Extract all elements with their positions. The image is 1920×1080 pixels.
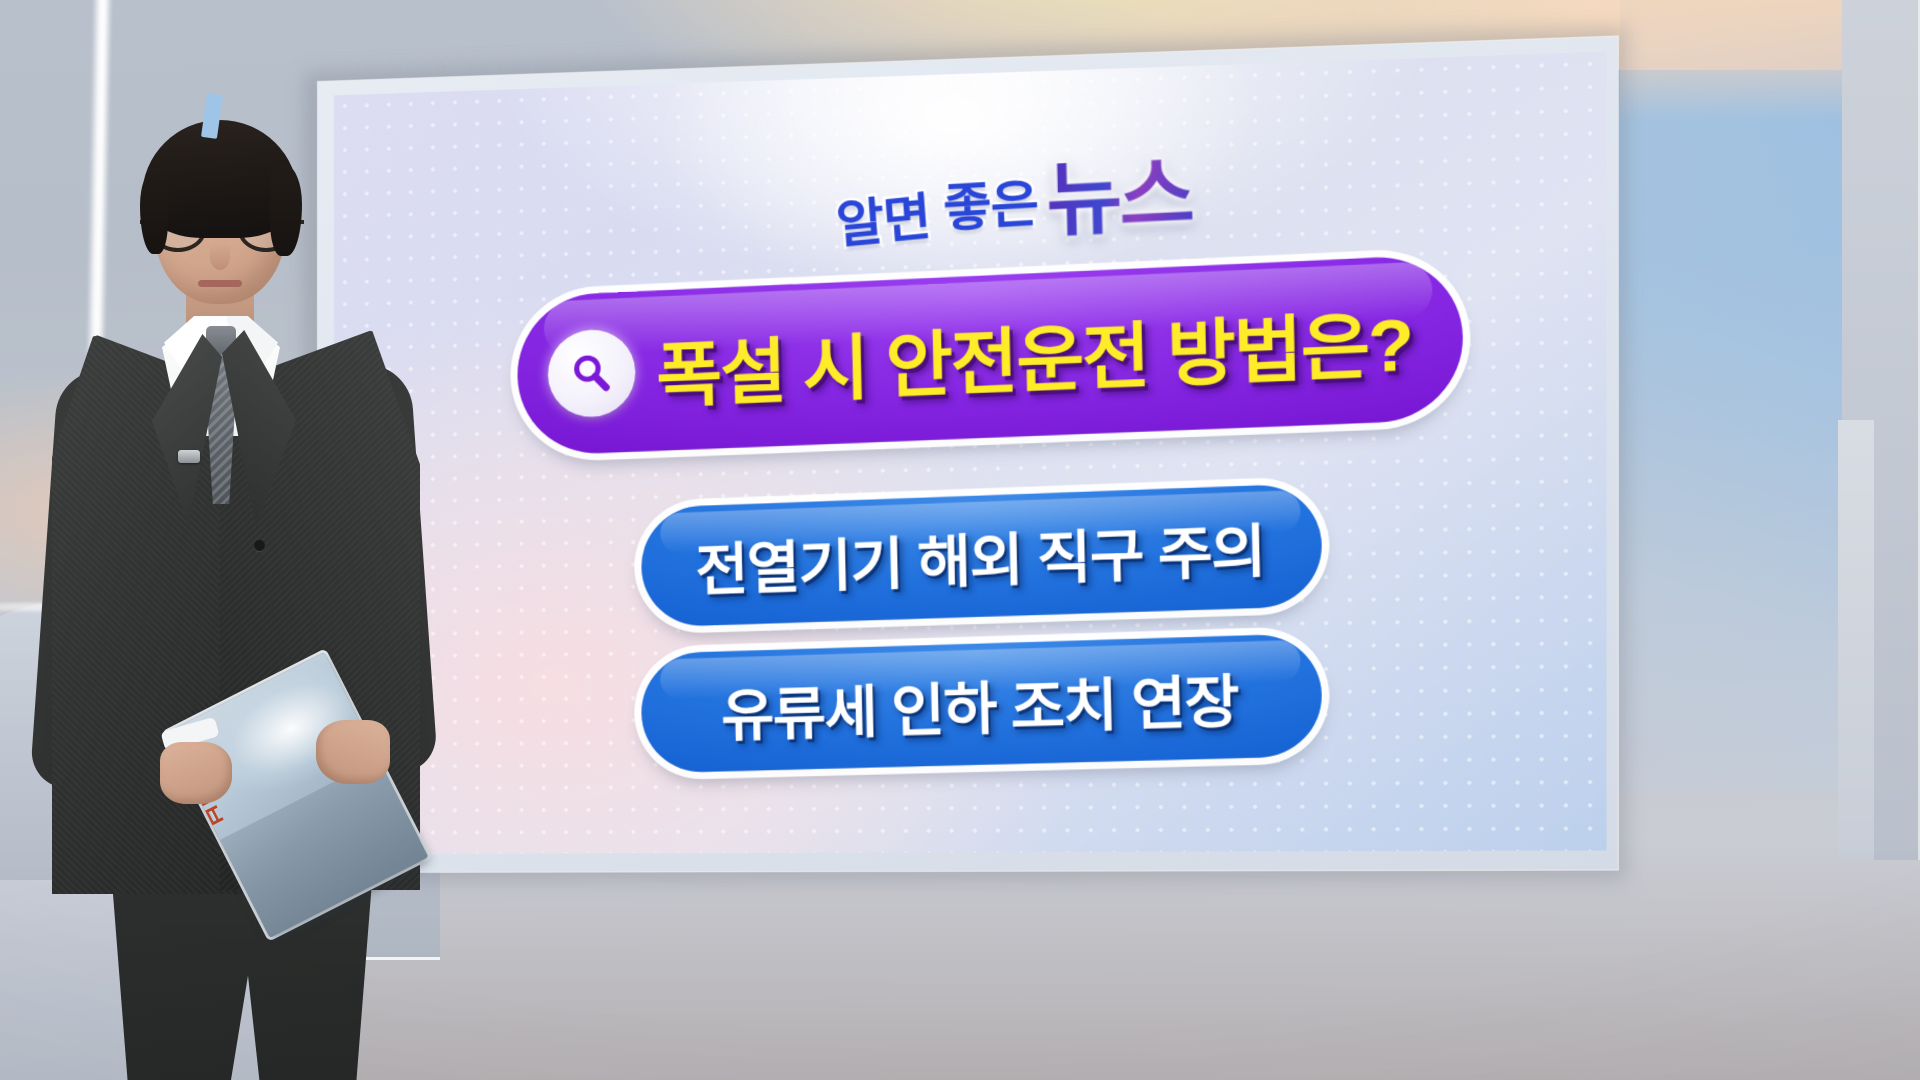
graphics-panel: 알면 좋은 뉴스 폭설 시 안전운전 방법은? 전열기기 해외 직구 주: [318, 37, 1618, 872]
lapel-microphone-icon: [178, 450, 200, 463]
news-anchor: 라이브 투데이: [58, 120, 478, 1080]
graphics-panel-screen: 알면 좋은 뉴스 폭설 시 안전운전 방법은? 전열기기 해외 직구 주: [334, 52, 1607, 854]
headline-primary-text: 폭설 시 안전운전 방법은?: [634, 283, 1463, 422]
headline-pill-primary[interactable]: 폭설 시 안전운전 방법은?: [516, 254, 1464, 456]
broadcast-frame: 알면 좋은 뉴스 폭설 시 안전운전 방법은? 전열기기 해외 직구 주: [0, 0, 1920, 1080]
headline-pill-secondary-2[interactable]: 유류세 인하 조치 연장: [640, 633, 1323, 774]
program-logo-main: 뉴스: [1045, 156, 1193, 241]
program-logo: 알면 좋은 뉴스: [835, 151, 1193, 246]
anchor-mouth: [198, 280, 242, 287]
headline-secondary-2-text: 유류세 인하 조치 연장: [720, 655, 1238, 753]
headline-pill-secondary-1[interactable]: 전열기기 해외 직구 주의: [640, 483, 1323, 628]
search-icon: [547, 328, 636, 419]
program-logo-prefix: 알면 좋은: [834, 180, 1039, 251]
anchor-nose: [210, 244, 230, 270]
headline-secondary-1-text: 전열기기 해외 직구 주의: [695, 504, 1266, 607]
anchor-hair-side-left: [140, 168, 168, 254]
anchor-hand-right: [316, 720, 390, 784]
studio-wall-panel-right-inner: [1838, 420, 1874, 860]
anchor-hair-side-right: [270, 164, 302, 256]
anchor-hand-left: [160, 742, 232, 804]
anchor-jacket-button: [254, 540, 265, 551]
